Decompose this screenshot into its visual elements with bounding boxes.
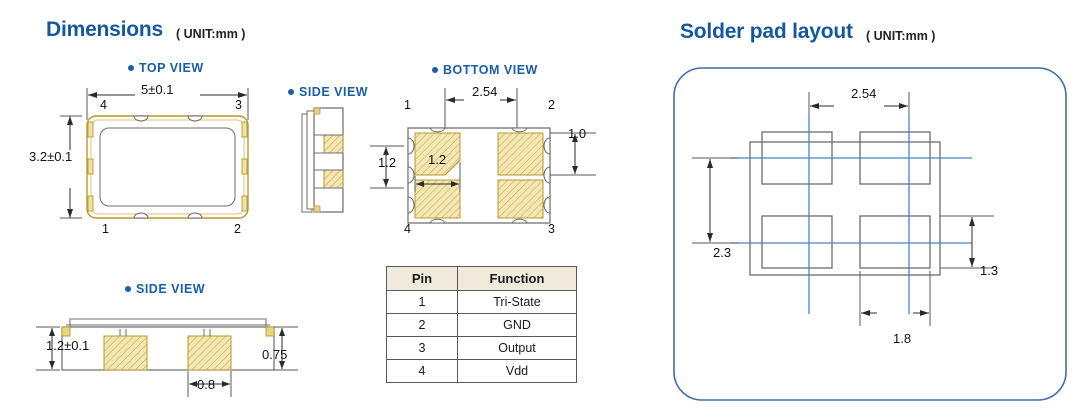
top-view-pin-2: 2 [234, 222, 241, 236]
table-header-pin: Pin [387, 267, 458, 291]
bullet-icon [288, 89, 294, 95]
solder-pad-width-dimension: 1.8 [893, 331, 911, 346]
bottom-view-label-text: BOTTOM VIEW [443, 63, 538, 77]
dimensions-unit-label: ( UNIT:mm ) [176, 27, 245, 41]
pin-function-cell: Vdd [458, 360, 577, 383]
side-view-lower-height-dimension: 1.2±0.1 [46, 338, 89, 353]
top-view-label: TOP VIEW [128, 61, 204, 75]
bullet-icon [432, 67, 438, 73]
dimensions-title: Dimensions [46, 18, 163, 42]
solder-pad-pitch-x-dimension: 2.54 [851, 86, 876, 101]
top-view-pin-4: 4 [100, 98, 107, 112]
table-row: 3 Output [387, 337, 577, 360]
table-row: 1 Tri-State [387, 291, 577, 314]
bottom-view-pitch-dimension: 2.54 [472, 84, 497, 99]
top-view-label-text: TOP VIEW [139, 61, 204, 75]
side-view-right-label: SIDE VIEW [288, 85, 368, 99]
solder-pad-panel [672, 66, 1072, 406]
side-view-right-label-text: SIDE VIEW [299, 85, 368, 99]
bottom-view-pin-1: 1 [404, 98, 411, 112]
bottom-view-drawing [360, 80, 620, 240]
side-view-right-drawing [296, 108, 366, 223]
pin-function-cell: Tri-State [458, 291, 577, 314]
pin-function-table: Pin Function 1 Tri-State 2 GND 3 Output … [386, 266, 577, 383]
pin-function-cell: Output [458, 337, 577, 360]
pin-function-cell: GND [458, 314, 577, 337]
pin-number-cell: 4 [387, 360, 458, 383]
top-view-width-dimension: 5±0.1 [141, 82, 173, 97]
top-view-pin-1: 1 [102, 222, 109, 236]
bottom-view-pad-width-dimension: 1.2 [428, 152, 446, 167]
side-view-lower-label-text: SIDE VIEW [136, 282, 205, 296]
side-view-lower-label: SIDE VIEW [125, 282, 205, 296]
bullet-icon [125, 286, 131, 292]
table-row: 2 GND [387, 314, 577, 337]
top-view-height-dimension: 3.2±0.1 [29, 149, 72, 164]
solder-pad-height-dimension: 1.3 [980, 263, 998, 278]
bottom-view-pin-2: 2 [548, 98, 555, 112]
solder-pad-title: Solder pad layout [680, 20, 853, 44]
top-view-pin-3: 3 [235, 98, 242, 112]
table-header-function: Function [458, 267, 577, 291]
side-view-lower-body-dimension: 0.75 [262, 347, 287, 362]
side-view-lower-pad-dimension: 0.8 [197, 377, 215, 392]
bottom-view-pin-3: 3 [548, 222, 555, 236]
table-header-row: Pin Function [387, 267, 577, 291]
solder-pad-unit-label: ( UNIT:mm ) [866, 29, 935, 43]
pin-number-cell: 3 [387, 337, 458, 360]
solder-pad-pitch-y-dimension: 2.3 [713, 245, 731, 260]
bottom-view-pad-height-dimension: 1.0 [568, 126, 586, 141]
table-row: 4 Vdd [387, 360, 577, 383]
bottom-view-pin-4: 4 [404, 222, 411, 236]
pin-number-cell: 2 [387, 314, 458, 337]
pin-number-cell: 1 [387, 291, 458, 314]
bullet-icon [128, 65, 134, 71]
bottom-view-label: BOTTOM VIEW [432, 63, 538, 77]
technical-drawing-page: Dimensions ( UNIT:mm ) TOP VIEW [0, 0, 1080, 420]
bottom-view-gap-dimension: 1.2 [378, 155, 396, 170]
